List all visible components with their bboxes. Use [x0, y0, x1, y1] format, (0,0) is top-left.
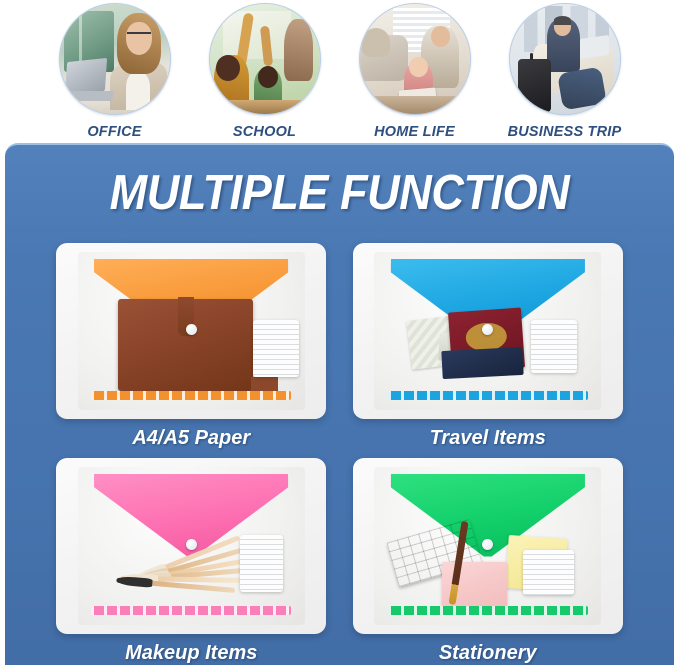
product-card-makeup[interactable] [56, 458, 326, 634]
lifestyle-label-business-trip: BUSINESS TRIP [508, 124, 622, 140]
product-cell-makeup: Makeup Items [50, 458, 333, 665]
product-cell-paper: A4/A5 Paper [50, 243, 333, 450]
note-tag-icon [240, 535, 283, 591]
school-photo-icon [209, 3, 321, 115]
ruler-strip-blue-icon [388, 391, 588, 400]
lifestyle-item-office: OFFICE [54, 3, 176, 140]
ruler-strip-pink-icon [91, 606, 291, 615]
ruler-strip-orange-icon [91, 391, 291, 400]
product-cell-stationery: Stationery [347, 458, 630, 665]
business-trip-photo-icon [509, 3, 621, 115]
office-photo-icon [59, 3, 171, 115]
snap-button-icon [186, 539, 197, 550]
lifestyle-item-business-trip: BUSINESS TRIP [504, 3, 626, 140]
product-card-stationery[interactable] [353, 458, 623, 634]
home-life-photo-icon [359, 3, 471, 115]
product-cell-travel: Travel Items [347, 243, 630, 450]
product-label-stationery: Stationery [439, 642, 537, 665]
multiple-function-panel: MULTIPLE FUNCTION A4/A5 Paper [5, 143, 674, 665]
note-tag-icon [523, 550, 574, 596]
lifestyle-label-home-life: HOME LIFE [374, 124, 455, 140]
product-label-travel: Travel Items [430, 427, 546, 450]
product-card-paper[interactable] [56, 243, 326, 419]
lifestyle-item-home-life: HOME LIFE [354, 3, 476, 140]
snap-button-icon [186, 324, 197, 335]
page-title: MULTIPLE FUNCTION [32, 165, 647, 221]
lifestyle-label-school: SCHOOL [233, 124, 296, 140]
leather-folder-icon [118, 299, 253, 391]
note-tag-icon [531, 320, 577, 373]
product-grid: A4/A5 Paper Travel Items [5, 221, 674, 665]
product-label-makeup: Makeup Items [125, 642, 257, 665]
lifestyle-label-office: OFFICE [87, 124, 141, 140]
product-card-travel[interactable] [353, 243, 623, 419]
ruler-strip-green-icon [388, 606, 588, 615]
lifestyle-item-school: SCHOOL [204, 3, 326, 140]
passport-navy-icon [441, 346, 523, 378]
lifestyle-strip: OFFICE SCHOOL HOME LIFE [0, 0, 679, 146]
product-label-paper: A4/A5 Paper [132, 427, 250, 450]
note-tag-icon [253, 320, 299, 376]
